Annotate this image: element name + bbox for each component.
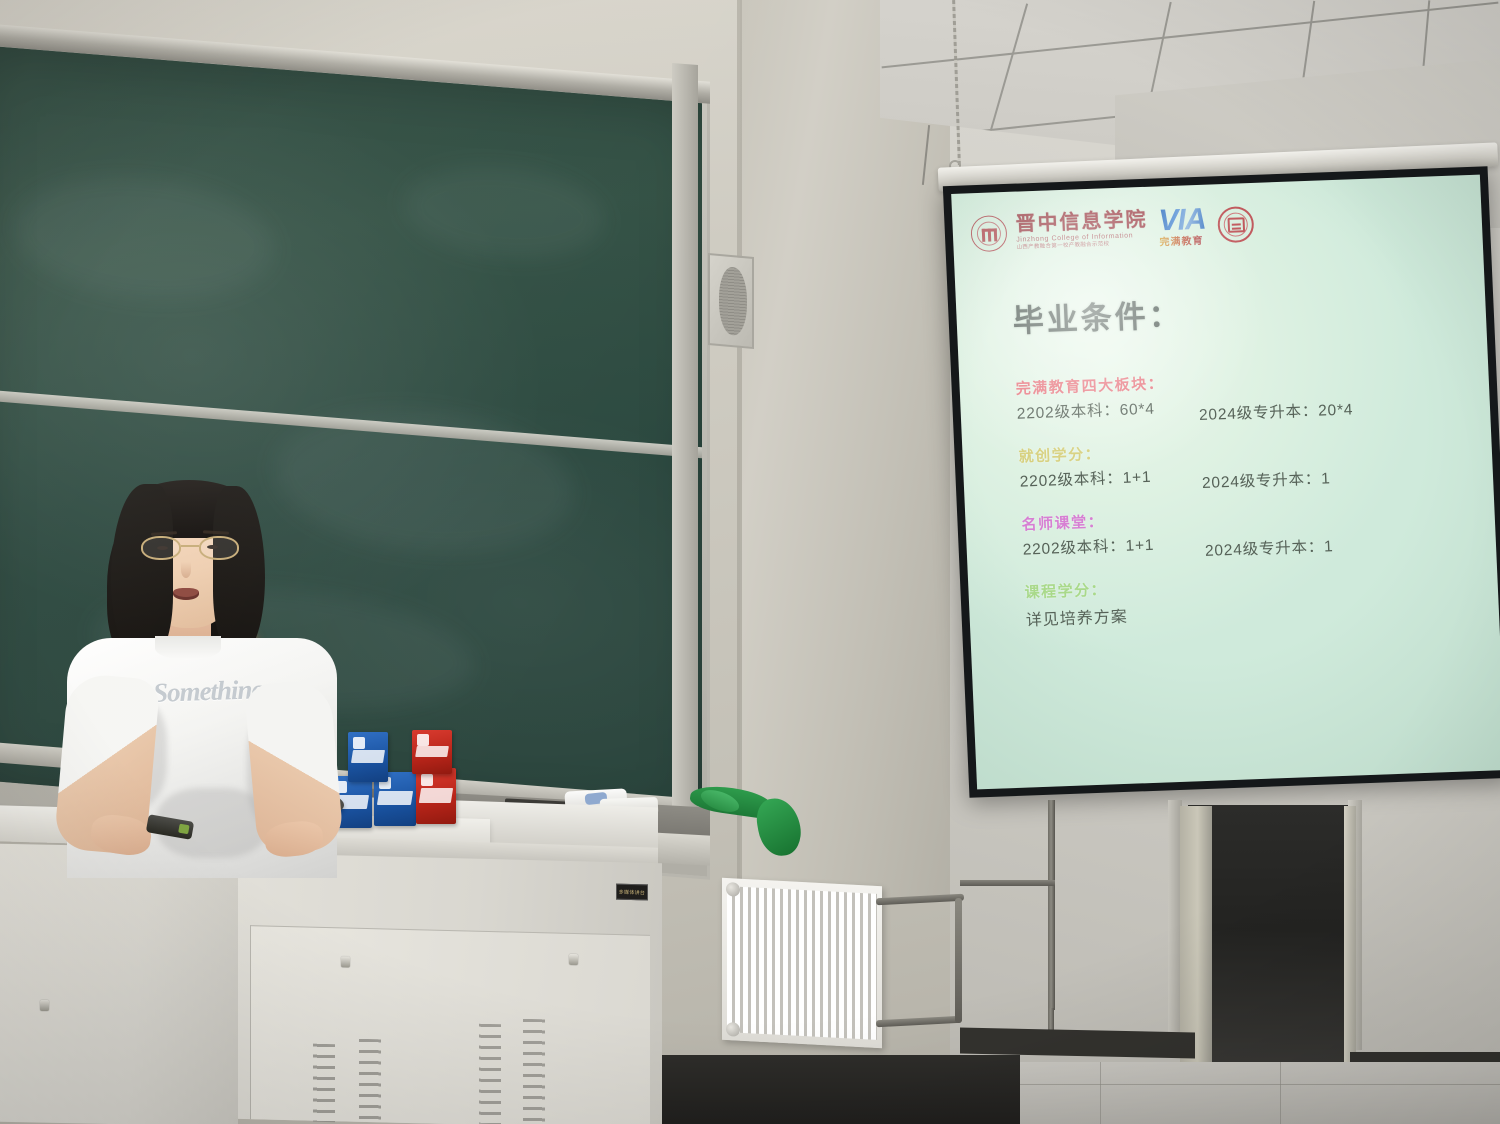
projection-screen: 晋中信息学院 Jinzhong College of Information 山… (943, 166, 1500, 797)
wall-speaker (708, 253, 754, 349)
speaker-grille-icon (719, 266, 747, 336)
cabinet-lock-icon[interactable] (40, 1000, 49, 1011)
door-jamb (1344, 806, 1356, 1074)
red-chalk-box (416, 768, 456, 824)
open-doorway[interactable] (1188, 805, 1348, 1080)
clicker-button[interactable] (178, 824, 189, 835)
mouth (173, 588, 199, 600)
cabinet-lock-icon[interactable] (569, 954, 578, 965)
floor-shadow-area (600, 1055, 1020, 1124)
nose (181, 562, 191, 578)
section-right-value: 2024级专升本：1 (1204, 534, 1333, 561)
wall-pipe-horizontal (960, 880, 1055, 886)
slide-surface: 晋中信息学院 Jinzhong College of Information 山… (951, 175, 1500, 790)
hair-right-strand (213, 486, 265, 654)
university-name-cn: 晋中信息学院 (1015, 210, 1148, 235)
section-left-value: 2202级本科：1+1 (1019, 465, 1151, 492)
glasses-icon (141, 536, 241, 560)
radiator-fins (727, 886, 877, 1040)
section-right-value: 2024级专升本：1 (1201, 466, 1330, 493)
radiator-pipe (955, 898, 962, 1023)
wall-pipe-vertical (1048, 800, 1055, 1010)
podium-cabinet-door[interactable] (250, 925, 650, 1124)
floor-tiles (950, 1062, 1500, 1124)
red-chalk-box (412, 730, 452, 774)
blue-chalk-box (348, 732, 388, 782)
wall-column (740, 0, 955, 900)
chalkboard-right-edge (672, 63, 698, 813)
red-seal-stamp-icon (1217, 206, 1255, 243)
cabinet-lock-icon[interactable] (341, 956, 350, 967)
radiator (722, 878, 882, 1048)
shirt-collar (155, 636, 221, 660)
section-left-value: 2202级本科：60*4 (1016, 397, 1155, 424)
presenter: Something (55, 470, 345, 870)
podium-cabinet-left (0, 843, 238, 1124)
classroom-presentation-photo: 晋中信息学院 Jinzhong College of Information 山… (0, 0, 1500, 1124)
slide-logo-bar: 晋中信息学院 Jinzhong College of Information 山… (970, 189, 1467, 261)
slide-body: 完满教育四大板块： 2202级本科：60*4 2024级专升本：20*4 就创学… (1015, 361, 1475, 630)
university-crest-icon (970, 215, 1008, 252)
university-name-block: 晋中信息学院 Jinzhong College of Information 山… (1015, 210, 1149, 251)
via-logo: VIA 完满教育 (1158, 205, 1207, 249)
hair-left-strand (111, 484, 173, 660)
wall-seam (737, 0, 742, 880)
via-subtitle-cn: 完满教育 (1159, 232, 1207, 249)
slide-title: 毕业条件： (1012, 290, 1184, 341)
podium-nameplate-text: 多媒体讲台 (619, 888, 646, 896)
baseboard (960, 1028, 1195, 1059)
section-left-value: 2202级本科：1+1 (1022, 533, 1154, 560)
podium-nameplate: 多媒体讲台 (616, 884, 648, 901)
section-right-value: 2024级专升本：20*4 (1199, 397, 1354, 425)
